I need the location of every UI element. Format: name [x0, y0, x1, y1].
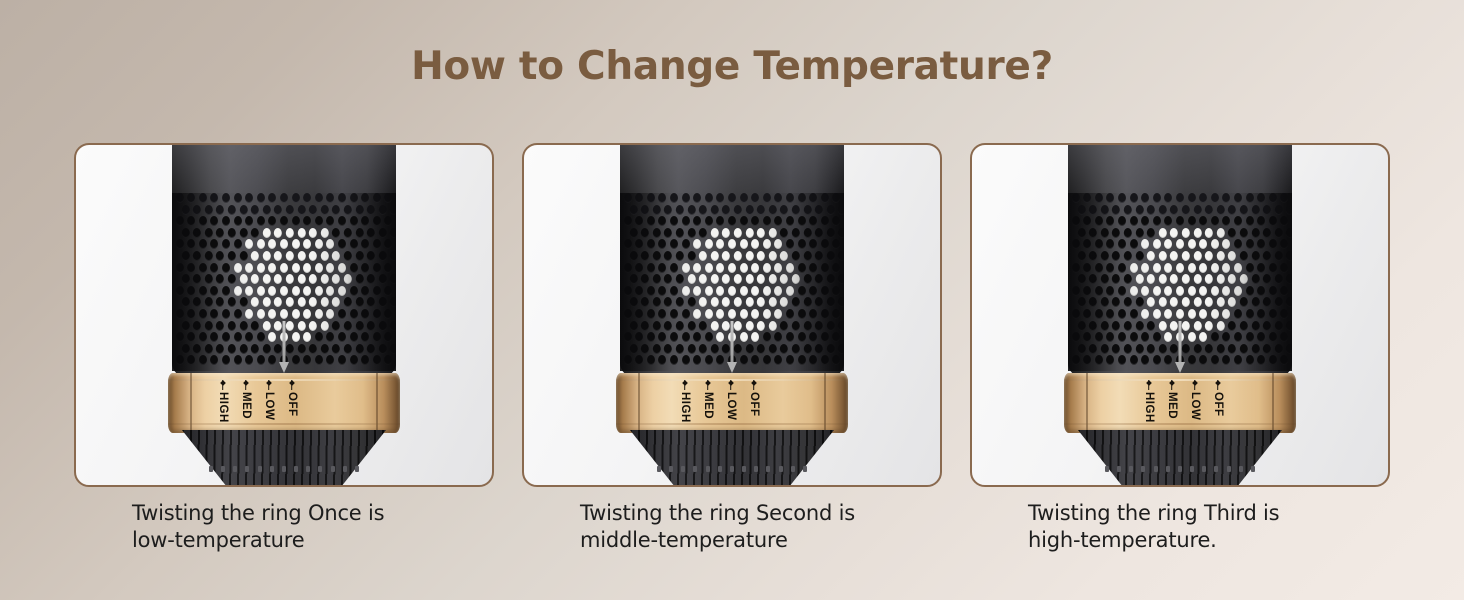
mesh-hole [1077, 274, 1085, 284]
mesh-hole [263, 205, 271, 215]
mesh-hole [1141, 286, 1149, 296]
mesh-hole [827, 274, 835, 284]
mesh-hole [1130, 263, 1138, 273]
index-arrow-icon [1176, 321, 1184, 373]
mesh-hole [629, 297, 637, 307]
mesh-hole [687, 297, 695, 307]
mesh-hole [1182, 228, 1190, 238]
mesh-hole [798, 216, 806, 226]
mesh-hole [815, 205, 823, 215]
mesh-hole [798, 309, 806, 319]
mesh-hole [1211, 309, 1219, 319]
mesh-hole [1193, 251, 1201, 261]
mesh-hole [734, 274, 742, 284]
mesh-hole [199, 216, 207, 226]
mesh-row [626, 205, 844, 216]
mesh-hole [1083, 263, 1091, 273]
mesh-hole [1095, 239, 1103, 249]
product-image-low: HIGHMEDLOWOFF [168, 145, 400, 487]
vent-dot [657, 466, 661, 472]
mesh-hole [1072, 216, 1080, 226]
vent-dot [318, 466, 322, 472]
mesh-hole [1240, 205, 1248, 215]
mesh-hole [1222, 239, 1230, 249]
mesh-hole [326, 286, 334, 296]
mesh-hole [1251, 205, 1259, 215]
mesh-hole [338, 286, 346, 296]
mesh-hole [367, 251, 375, 261]
mesh-hole [1083, 355, 1091, 365]
vent-dot [730, 466, 734, 472]
mesh-hole [1280, 309, 1288, 319]
mesh-hole [1263, 228, 1271, 238]
mesh-hole [297, 228, 305, 238]
mesh-hole [774, 239, 782, 249]
mesh-hole [309, 344, 317, 354]
mesh-hole [1170, 297, 1178, 307]
mesh-hole [1234, 193, 1242, 203]
mesh-hole [187, 216, 195, 226]
mesh-row [620, 239, 844, 250]
vent-dot [718, 466, 722, 472]
mesh-hole [1124, 251, 1132, 261]
mesh-hole [670, 216, 678, 226]
vent-dot [355, 466, 359, 472]
mesh-hole [1211, 332, 1219, 342]
mesh-hole [821, 309, 829, 319]
mesh-hole [1286, 205, 1292, 215]
caption-low-line1: Twisting the ring Once is [132, 501, 384, 525]
mesh-hole [803, 251, 811, 261]
mesh-hole [1118, 332, 1126, 342]
mesh-hole [1112, 321, 1120, 331]
mesh-hole [321, 321, 329, 331]
mesh-hole [1188, 309, 1196, 319]
mesh-hole [699, 251, 707, 261]
mesh-hole [222, 332, 230, 342]
mesh-hole [274, 297, 282, 307]
mesh-hole [216, 321, 224, 331]
mesh-hole [1286, 274, 1292, 284]
mesh-hole [1159, 205, 1167, 215]
mesh-hole [676, 205, 684, 215]
mesh-hole [635, 286, 643, 296]
vent-dot [1105, 466, 1109, 472]
mesh-hole [670, 239, 678, 249]
mesh-hole [251, 251, 259, 261]
mesh-hole [292, 286, 300, 296]
base-vent-dots [657, 466, 807, 473]
mesh-hole [268, 216, 276, 226]
vent-dot [779, 466, 783, 472]
mesh-hole [693, 193, 701, 203]
mesh-row [626, 251, 844, 262]
mesh-hole [1182, 274, 1190, 284]
mesh-hole [1164, 286, 1172, 296]
mesh-hole [228, 205, 236, 215]
mesh-hole [1130, 309, 1138, 319]
mesh-hole [1240, 228, 1248, 238]
base-cone [1078, 430, 1282, 487]
mesh-hole [740, 332, 748, 342]
mesh-hole [809, 239, 817, 249]
mesh-hole [809, 263, 817, 273]
mesh-hole [751, 263, 759, 273]
mesh-hole [187, 193, 195, 203]
mesh-hole [1147, 344, 1155, 354]
mesh-hole [367, 205, 375, 215]
mesh-hole [769, 228, 777, 238]
mesh-hole [286, 274, 294, 284]
mesh-hole [199, 309, 207, 319]
mesh-hole [1101, 297, 1109, 307]
mesh-hole [635, 239, 643, 249]
mesh-hole [222, 286, 230, 296]
mesh-hole [699, 321, 707, 331]
mesh-hole [1222, 309, 1230, 319]
mesh-hole [1251, 297, 1259, 307]
mesh-hole [1269, 332, 1277, 342]
mesh-hole [176, 309, 184, 319]
mesh-hole [1286, 344, 1292, 354]
mesh-hole [367, 274, 375, 284]
vent-dot [669, 466, 673, 472]
mesh-hole [1135, 251, 1143, 261]
product-card-high: HIGHMEDLOWOFF [970, 143, 1390, 487]
mesh-hole [693, 263, 701, 273]
mesh-hole [624, 332, 632, 342]
mesh-hole [1217, 205, 1225, 215]
mesh-hole [251, 297, 259, 307]
temperature-ring-middle[interactable]: HIGHMEDLOWOFF [616, 373, 848, 433]
mesh-hole [379, 321, 387, 331]
mesh-hole [239, 297, 247, 307]
mesh-hole [670, 263, 678, 273]
mesh-hole [1147, 251, 1155, 261]
vent-dot [803, 466, 807, 472]
product-image-middle: HIGHMEDLOWOFF [616, 145, 848, 487]
mesh-hole [786, 216, 794, 226]
dial-label-high: HIGH [1142, 392, 1155, 423]
mesh-hole [1188, 193, 1196, 203]
mesh-hole [722, 205, 730, 215]
mesh-hole [216, 228, 224, 238]
mesh-hole [658, 216, 666, 226]
mesh-hole [234, 216, 242, 226]
mesh-hole [193, 251, 201, 261]
mesh-hole [274, 205, 282, 215]
mesh-hole [1130, 355, 1138, 365]
mesh-hole [693, 239, 701, 249]
mesh-hole [1147, 321, 1155, 331]
mesh-hole [722, 274, 730, 284]
mesh-row [172, 309, 396, 320]
mesh-row [172, 239, 396, 250]
mesh-hole [373, 332, 381, 342]
mesh-hole [1286, 251, 1292, 261]
mesh-hole [1251, 344, 1259, 354]
mesh-hole [315, 286, 323, 296]
mesh-hole [181, 251, 189, 261]
mesh-hole [1118, 286, 1126, 296]
mesh-hole [774, 216, 782, 226]
product-card-low: HIGHMEDLOWOFF [74, 143, 494, 487]
mesh-hole [245, 216, 253, 226]
mesh-hole [1101, 205, 1109, 215]
mesh-hole [1130, 216, 1138, 226]
mesh-hole [181, 205, 189, 215]
mesh-hole [384, 193, 392, 203]
dial-marker-icon [285, 380, 298, 391]
mesh-hole [1263, 251, 1271, 261]
mesh-hole [239, 251, 247, 261]
mesh-row [1068, 263, 1292, 274]
mesh-hole [234, 286, 242, 296]
mesh-hole [228, 321, 236, 331]
mesh-hole [763, 332, 771, 342]
mesh-hole [234, 355, 242, 365]
mesh-row [178, 274, 396, 285]
mesh-hole [1083, 309, 1091, 319]
mesh-hole [344, 344, 352, 354]
mesh-hole [757, 228, 765, 238]
mesh-hole [780, 321, 788, 331]
mesh-hole [1095, 332, 1103, 342]
mesh-hole [682, 309, 690, 319]
mesh-hole [821, 286, 829, 296]
mesh-hole [734, 205, 742, 215]
dial-tick-low: LOW [262, 380, 275, 420]
mesh-hole [821, 216, 829, 226]
mesh-hole [361, 355, 369, 365]
mesh-hole [193, 297, 201, 307]
mesh-hole [222, 263, 230, 273]
mesh-hole [257, 216, 265, 226]
mesh-hole [1101, 344, 1109, 354]
mesh-hole [1211, 239, 1219, 249]
mesh-hole [1199, 309, 1207, 319]
mesh-hole [326, 216, 334, 226]
dial-tick-high: HIGH [678, 380, 691, 423]
caption-middle: Twisting the ring Second is middle-tempe… [522, 500, 942, 570]
mesh-hole [390, 297, 396, 307]
mesh-hole [1275, 205, 1283, 215]
mesh-hole [315, 239, 323, 249]
mesh-hole [711, 297, 719, 307]
mesh-hole [1083, 239, 1091, 249]
dial-labels-low: HIGHMEDLOWOFF [216, 380, 298, 432]
mesh-hole [239, 321, 247, 331]
vent-dot [233, 466, 237, 472]
dial-label-med: MED [1165, 392, 1178, 419]
mesh-hole [641, 274, 649, 284]
mesh-hole [641, 344, 649, 354]
mesh-row [172, 286, 396, 297]
mesh-hole [1246, 193, 1254, 203]
mesh-hole [384, 216, 392, 226]
mesh-hole [838, 274, 844, 284]
mesh-hole [1217, 297, 1225, 307]
mesh-hole [373, 263, 381, 273]
mesh-hole [763, 239, 771, 249]
mesh-hole [326, 193, 334, 203]
mesh-hole [332, 344, 340, 354]
vent-dot [1129, 466, 1133, 472]
mesh-hole [1199, 332, 1207, 342]
mesh-hole [1263, 297, 1271, 307]
dial-marker-icon [1211, 380, 1224, 391]
mesh-hole [263, 251, 271, 261]
mesh-hole [1095, 193, 1103, 203]
mesh-hole [1193, 274, 1201, 284]
mesh-hole [361, 286, 369, 296]
dial-label-med: MED [701, 392, 714, 419]
mesh-row [1068, 309, 1292, 320]
mesh-hole [1141, 193, 1149, 203]
mesh-hole [711, 228, 719, 238]
mesh-hole [390, 228, 396, 238]
mesh-hole [1286, 297, 1292, 307]
mesh-hole [1159, 228, 1167, 238]
vent-dot [270, 466, 274, 472]
mesh-hole [228, 297, 236, 307]
mesh-hole [1106, 239, 1114, 249]
mesh-hole [1083, 332, 1091, 342]
mesh-hole [682, 355, 690, 365]
mesh-hole [745, 228, 753, 238]
mesh-hole [699, 297, 707, 307]
mesh-hole [1153, 286, 1161, 296]
mesh-hole [670, 193, 678, 203]
mesh-hole [728, 263, 736, 273]
mesh-hole [1153, 216, 1161, 226]
mesh-hole [751, 309, 759, 319]
mesh-hole [705, 239, 713, 249]
dial-tick-low: LOW [724, 380, 737, 420]
mesh-hole [1153, 355, 1161, 365]
mesh-hole [699, 344, 707, 354]
mesh-hole [1257, 263, 1265, 273]
mesh-hole [1106, 193, 1114, 203]
mesh-hole [216, 251, 224, 261]
mesh-hole [1228, 228, 1236, 238]
mesh-hole [687, 251, 695, 261]
mesh-hole [210, 239, 218, 249]
mesh-hole [251, 321, 259, 331]
vent-dot [258, 466, 262, 472]
mesh-hole [332, 251, 340, 261]
mesh-hole [786, 263, 794, 273]
mesh-hole [355, 274, 363, 284]
mesh-hole [774, 309, 782, 319]
mesh-hole [355, 205, 363, 215]
temperature-ring-low[interactable]: HIGHMEDLOWOFF [168, 373, 400, 433]
mesh-hole [1251, 274, 1259, 284]
mesh-hole [187, 309, 195, 319]
mesh-hole [1135, 344, 1143, 354]
mesh-hole [827, 297, 835, 307]
mesh-hole [297, 251, 305, 261]
mesh-hole [1106, 263, 1114, 273]
mesh-hole [1089, 274, 1097, 284]
mesh-hole [1072, 309, 1080, 319]
mesh-hole [297, 321, 305, 331]
mesh-hole [647, 263, 655, 273]
mesh-hole [373, 355, 381, 365]
mesh-hole [641, 321, 649, 331]
mesh-hole [786, 355, 794, 365]
mesh-hole [268, 309, 276, 319]
mesh-hole [1170, 205, 1178, 215]
mesh-hole [1089, 228, 1097, 238]
mesh-hole [624, 239, 632, 249]
mesh-hole [1228, 321, 1236, 331]
vent-dot [1251, 466, 1255, 472]
dial-tick-off: OFF [747, 380, 760, 417]
dial-tick-med: MED [239, 380, 252, 419]
mesh-hole [699, 228, 707, 238]
index-arrow-icon [280, 321, 288, 373]
mesh-hole [321, 297, 329, 307]
mesh-hole [838, 251, 844, 261]
mesh-hole [361, 216, 369, 226]
mesh-hole [338, 216, 346, 226]
temperature-ring-high[interactable]: HIGHMEDLOWOFF [1064, 373, 1296, 433]
mesh-hole [292, 216, 300, 226]
mesh-hole [1263, 321, 1271, 331]
mesh-hole [286, 297, 294, 307]
base-cone [182, 430, 386, 487]
mesh-hole [1246, 355, 1254, 365]
mesh-hole [222, 239, 230, 249]
mesh-hole [1228, 274, 1236, 284]
mesh-hole [355, 321, 363, 331]
mesh-hole [832, 286, 840, 296]
mesh-hole [635, 263, 643, 273]
mesh-hole [641, 251, 649, 261]
mesh-hole [682, 263, 690, 273]
mesh-hole [769, 344, 777, 354]
mesh-hole [745, 205, 753, 215]
mesh-hole [384, 355, 392, 365]
mesh-hole [803, 297, 811, 307]
dial-marker-icon [216, 380, 229, 391]
mesh-hole [1164, 193, 1172, 203]
mesh-hole [1188, 355, 1196, 365]
mesh-row [1068, 239, 1292, 250]
mesh-hole [1135, 274, 1143, 284]
mesh-hole [1141, 263, 1149, 273]
mesh-hole [658, 239, 666, 249]
mesh-hole [303, 263, 311, 273]
mesh-hole [303, 286, 311, 296]
mesh-row [620, 193, 844, 204]
dial-marker-icon [747, 380, 760, 391]
mesh-hole [658, 309, 666, 319]
mesh-hole [1118, 263, 1126, 273]
mesh-hole [780, 344, 788, 354]
mesh-hole [216, 274, 224, 284]
mesh-hole [1147, 297, 1155, 307]
mesh-hole [344, 251, 352, 261]
mesh-hole [205, 344, 213, 354]
mesh-hole [711, 205, 719, 215]
mesh-hole [786, 193, 794, 203]
mesh-hole [326, 355, 334, 365]
mesh-hole [624, 309, 632, 319]
mesh-hole [757, 321, 765, 331]
mesh-hole [1141, 239, 1149, 249]
